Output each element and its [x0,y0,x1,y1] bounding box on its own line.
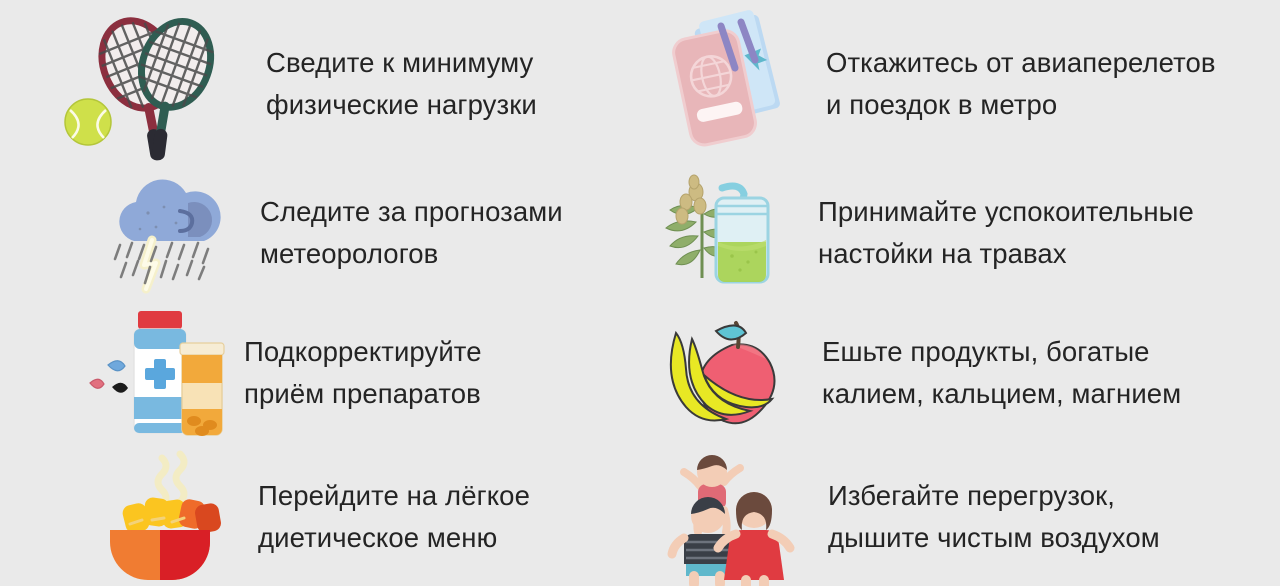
tips-grid: Сведите к минимуму физические нагрузки [0,0,1280,586]
tennis-rackets-icon [66,14,242,154]
tip-take-herbal-sedatives: Принимайте успокоительные настойки на тр… [640,168,1280,298]
tip-caption: Избегайте перегрузок, дышите чистым возд… [828,475,1160,559]
tip-avoid-overload-breathe-clean-air: Избегайте перегрузок, дышите чистым возд… [640,448,1280,586]
herbal-drink-jar-icon [652,174,780,292]
passport-tickets-icon [662,10,792,158]
tip-caption: Ешьте продукты, богатые калием, кальцием… [822,331,1181,415]
infographic-root: Сведите к минимуму физические нагрузки [0,0,1280,586]
tip-caption: Принимайте успокоительные настойки на тр… [818,191,1194,275]
tip-eat-potassium-rich-food: Ешьте продукты, богатые калием, кальцием… [640,298,1280,448]
tip-caption: Сведите к минимуму физические нагрузки [266,42,537,126]
tip-caption: Откажитесь от авиаперелетов и поездок в … [826,42,1216,126]
rain-cloud-icon [104,173,230,293]
tip-follow-weather-forecast: Следите за прогнозами метеорологов [0,168,640,298]
tip-caption: Следите за прогнозами метеорологов [260,191,563,275]
tip-adjust-medication: Подкорректируйте приём препаратов [0,298,640,448]
tip-avoid-flights-and-metro: Откажитесь от авиаперелетов и поездок в … [640,0,1280,168]
tip-caption: Перейдите на лёгкое диетическое меню [258,475,530,559]
tip-switch-to-light-diet: Перейдите на лёгкое диетическое меню [0,448,640,586]
tip-caption: Подкорректируйте приём препаратов [244,331,482,415]
banana-apple-icon [658,317,786,429]
children-family-icon [662,454,792,580]
tip-limit-physical-activity: Сведите к минимуму физические нагрузки [0,0,640,168]
food-bowl-icon [90,452,230,582]
medicine-bottles-icon [82,305,218,441]
